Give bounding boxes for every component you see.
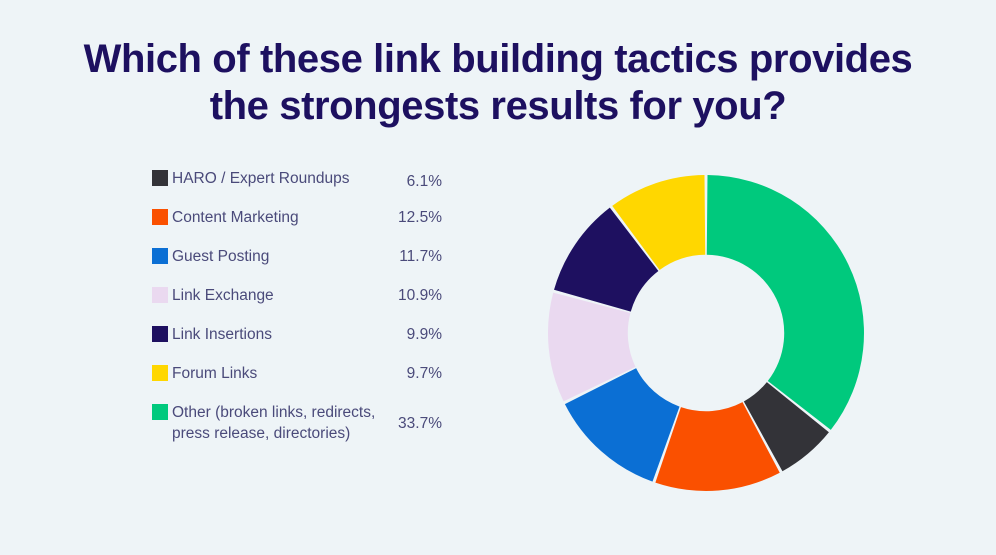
legend-value-other: 33.7% <box>386 413 442 434</box>
legend-label-guest-posting: Guest Posting <box>172 246 386 267</box>
legend-label-content-marketing: Content Marketing <box>172 207 386 228</box>
infographic-canvas: Which of these link building tactics pro… <box>0 0 996 555</box>
legend-item-forum-links[interactable]: Forum Links 9.7% <box>152 363 442 389</box>
swatch-haro-expert-roundups <box>152 170 168 186</box>
legend-item-haro-expert-roundups[interactable]: HARO / Expert Roundups 6.1% <box>152 168 442 194</box>
donut-slice[interactable] <box>707 175 864 430</box>
legend-label-other: Other (broken links, redirects, press re… <box>172 402 386 444</box>
legend-item-link-exchange[interactable]: Link Exchange 10.9% <box>152 285 442 311</box>
legend-item-link-insertions[interactable]: Link Insertions 9.9% <box>152 324 442 350</box>
swatch-content-marketing <box>152 209 168 225</box>
swatch-forum-links <box>152 365 168 381</box>
legend-value-link-exchange: 10.9% <box>386 285 442 306</box>
page-title: Which of these link building tactics pro… <box>0 36 996 130</box>
swatch-link-insertions <box>152 326 168 342</box>
title-line-1: Which of these link building tactics pro… <box>0 36 996 83</box>
swatch-other <box>152 404 168 420</box>
legend-item-content-marketing[interactable]: Content Marketing 12.5% <box>152 207 442 233</box>
legend-label-forum-links: Forum Links <box>172 363 386 384</box>
legend-value-guest-posting: 11.7% <box>386 246 442 267</box>
donut-slice-group <box>548 175 864 491</box>
chart-legend: HARO / Expert Roundups 6.1% Content Mark… <box>152 168 442 457</box>
swatch-link-exchange <box>152 287 168 303</box>
legend-value-content-marketing: 12.5% <box>386 207 442 228</box>
donut-chart-svg <box>546 173 866 493</box>
legend-value-haro-expert-roundups: 6.1% <box>386 171 442 192</box>
donut-chart <box>546 173 866 493</box>
legend-item-other[interactable]: Other (broken links, redirects, press re… <box>152 402 442 444</box>
legend-value-link-insertions: 9.9% <box>386 324 442 345</box>
legend-label-link-insertions: Link Insertions <box>172 324 386 345</box>
legend-item-guest-posting[interactable]: Guest Posting 11.7% <box>152 246 442 272</box>
title-line-2: the strongests results for you? <box>0 83 996 130</box>
legend-value-forum-links: 9.7% <box>386 363 442 384</box>
legend-label-haro-expert-roundups: HARO / Expert Roundups <box>172 168 386 189</box>
swatch-guest-posting <box>152 248 168 264</box>
legend-label-link-exchange: Link Exchange <box>172 285 386 306</box>
